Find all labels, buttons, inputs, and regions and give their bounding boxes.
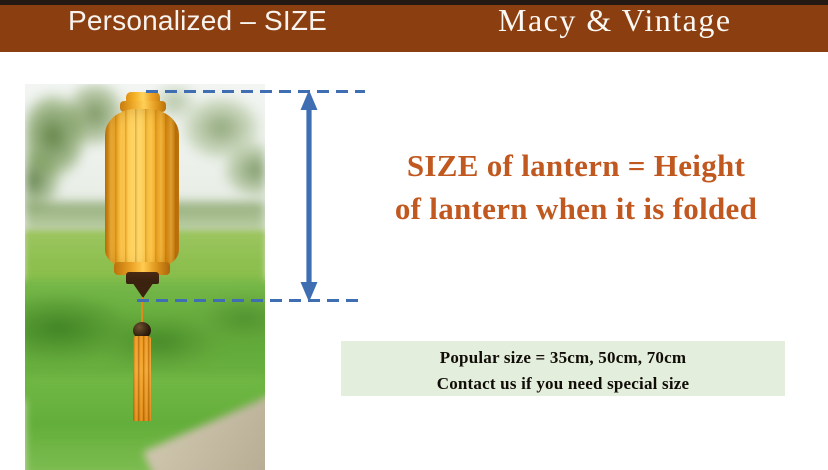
note-text: Popular size = 35cm, 50cm, 70cm Contact …	[341, 345, 785, 397]
brand-logo-text: Macy & Vintage	[498, 2, 732, 39]
lantern-silk-body	[105, 109, 179, 269]
note-line-2: Contact us if you need special size	[341, 371, 785, 397]
tassel-fringe	[133, 336, 151, 421]
lantern-object	[102, 92, 182, 292]
note-line-1: Popular size = 35cm, 50cm, 70cm	[341, 345, 785, 371]
main-statement-line-1: SIZE of lantern = Height	[340, 145, 812, 188]
bottom-guide-line-icon	[137, 299, 365, 302]
main-statement-line-2: of lantern when it is folded	[340, 188, 812, 231]
top-guide-line-icon	[146, 90, 365, 93]
page-title: Personalized – SIZE	[68, 5, 327, 37]
height-arrow-icon	[296, 88, 322, 304]
lantern-photo	[25, 84, 265, 470]
main-statement: SIZE of lantern = Height of lantern when…	[340, 145, 812, 231]
slide-canvas: Personalized – SIZE Macy & Vintage	[0, 0, 828, 470]
lantern-bottom-cone	[132, 282, 154, 298]
